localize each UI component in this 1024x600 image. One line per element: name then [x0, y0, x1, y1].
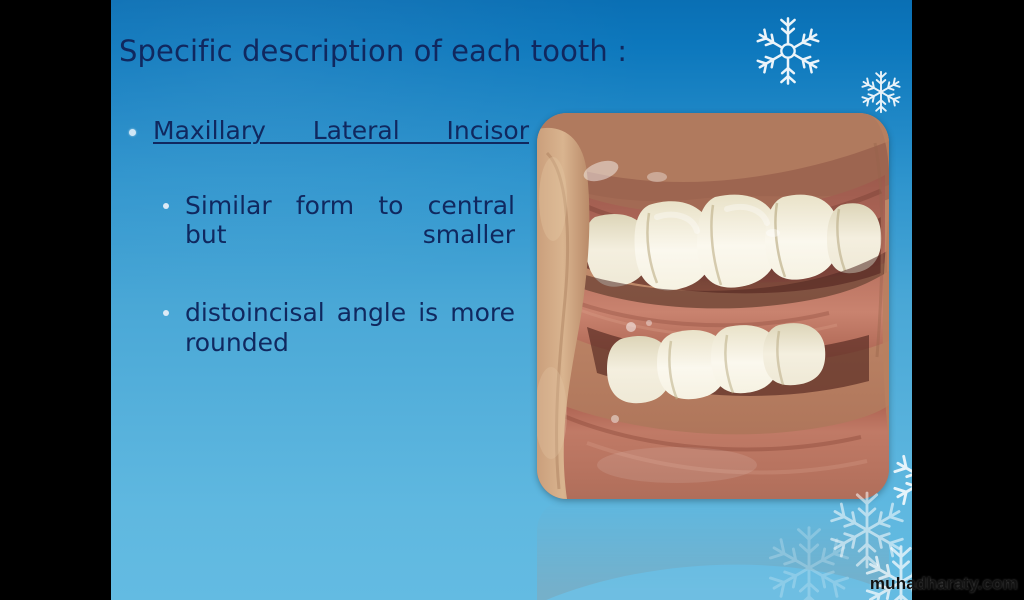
- bullet-text: distoincisal angle is more rounded: [185, 298, 515, 386]
- bullet-text: Maxillary Lateral Incisor: [153, 116, 529, 175]
- snowflake-icon-bottom-d: [887, 440, 912, 520]
- bullet-item-level2: distoincisal angle is more rounded: [157, 298, 515, 386]
- snowflake-icon-top-small: [857, 68, 905, 116]
- bullet-dot-icon: [163, 310, 169, 316]
- page-title: Specific description of each tooth :: [119, 36, 819, 68]
- bullet-sublist: Similar form to central but smaller dist…: [117, 191, 529, 387]
- bullet-item-level1: Maxillary Lateral Incisor: [117, 116, 529, 175]
- snowflake-icon-bottom-b: [761, 520, 857, 600]
- clinical-photo-frame: [537, 113, 889, 499]
- letterbox-left: [0, 0, 111, 600]
- slide-canvas: Specific description of each tooth : Max…: [111, 0, 912, 600]
- bullet-text: Similar form to central but smaller: [185, 191, 515, 279]
- letterbox-right: [912, 0, 1024, 600]
- watermark: muhadharaty.com: [870, 574, 1018, 594]
- bullet-item-level2: Similar form to central but smaller: [157, 191, 515, 279]
- bullet-dot-icon: [163, 203, 169, 209]
- slide-viewer: Specific description of each tooth : Max…: [0, 0, 1024, 600]
- clinical-photo: [537, 113, 889, 499]
- slide-body: Maxillary Lateral Incisor Similar form t…: [117, 116, 529, 406]
- snowflake-icon-bottom-a: [823, 486, 911, 574]
- bullet-dot-icon: [129, 129, 136, 136]
- photo-reflection: [537, 500, 889, 600]
